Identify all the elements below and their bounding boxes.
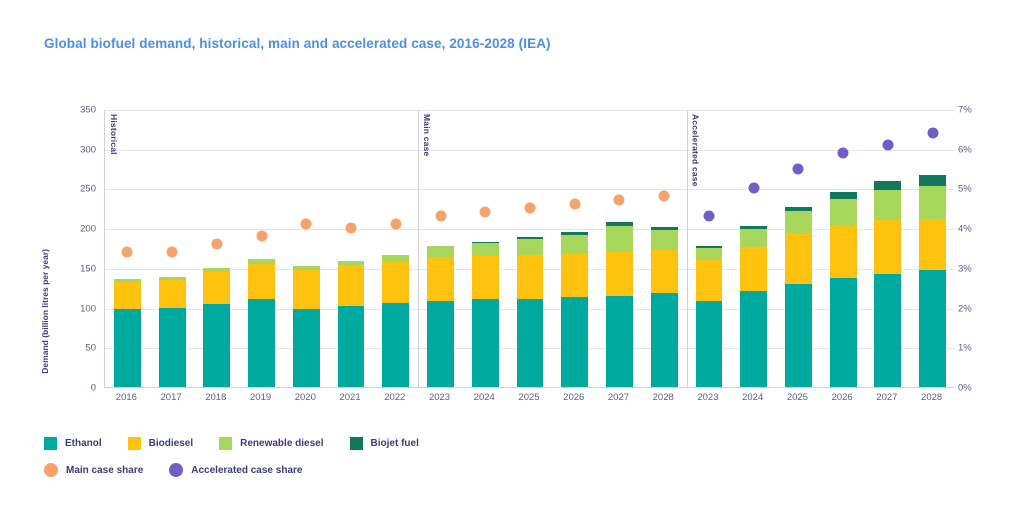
bar-segment-renewable_diesel — [427, 246, 454, 257]
bar-2021-historical[interactable] — [338, 109, 365, 387]
bar-segment-biodiesel — [696, 260, 723, 301]
marker-dot-accelerated_case_share[interactable] — [838, 147, 849, 158]
bar-2026-main-case[interactable] — [561, 109, 588, 387]
legend-label: Renewable diesel — [240, 438, 323, 449]
x-tick-label: 2022 — [384, 392, 405, 403]
x-tick-label: 2019 — [250, 392, 271, 403]
bar-segment-biodiesel — [740, 247, 767, 291]
bar-2028-accelerated-case[interactable] — [919, 109, 946, 387]
y-tick-label-right: 1% — [958, 343, 972, 354]
marker-dot-main_case_share[interactable] — [256, 231, 267, 242]
legend-item[interactable]: Main case share — [44, 463, 143, 477]
bar-segment-ethanol — [740, 291, 767, 387]
x-tick-label: 2028 — [921, 392, 942, 403]
bar-segment-biodiesel — [248, 264, 275, 299]
bar-segment-biodiesel — [382, 261, 409, 303]
bar-2024-main-case[interactable] — [472, 109, 499, 387]
bar-segment-biodiesel — [159, 280, 186, 308]
bar-segment-renewable_diesel — [606, 226, 633, 252]
panel-divider — [418, 110, 419, 387]
marker-dot-accelerated_case_share[interactable] — [793, 163, 804, 174]
bar-segment-biojet — [606, 222, 633, 226]
bar-segment-renewable_diesel — [740, 229, 767, 247]
bar-segment-ethanol — [517, 299, 544, 387]
legend-swatch-main_case_share — [44, 463, 58, 477]
y-tick-label: 350 — [80, 105, 96, 116]
bar-segment-ethanol — [382, 303, 409, 387]
marker-dot-main_case_share[interactable] — [390, 219, 401, 230]
bar-segment-biodiesel — [114, 282, 141, 309]
x-tick-label: 2027 — [608, 392, 629, 403]
bar-segment-renewable_diesel — [919, 186, 946, 219]
bar-segment-biojet — [696, 246, 723, 248]
bar-segment-biodiesel — [606, 252, 633, 296]
bar-segment-renewable_diesel — [203, 268, 230, 272]
panel-divider — [687, 110, 688, 387]
marker-dot-accelerated_case_share[interactable] — [882, 139, 893, 150]
bar-segment-renewable_diesel — [651, 230, 678, 250]
y-tick-label-right: 3% — [958, 263, 972, 274]
legend-label: Biodiesel — [149, 438, 193, 449]
bar-segment-biodiesel — [785, 233, 812, 284]
bar-segment-renewable_diesel — [561, 235, 588, 252]
bar-segment-biodiesel — [293, 270, 320, 309]
y-tick-label: 150 — [80, 263, 96, 274]
bar-segment-renewable_diesel — [382, 255, 409, 261]
y-tick-label: 200 — [80, 224, 96, 235]
bar-segment-biojet — [919, 175, 946, 186]
bar-segment-renewable_diesel — [696, 248, 723, 260]
bar-segment-renewable_diesel — [114, 279, 141, 282]
y-axis-right-ticks: 0%1%2%3%4%5%6%7% — [958, 110, 1004, 388]
legend-row-series: EthanolBiodieselRenewable dieselBiojet f… — [44, 437, 604, 450]
x-tick-label: 2025 — [518, 392, 539, 403]
bar-segment-renewable_diesel — [874, 190, 901, 220]
bar-2023-main-case[interactable] — [427, 109, 454, 387]
bar-segment-ethanol — [427, 301, 454, 387]
x-tick-label: 2016 — [116, 392, 137, 403]
legend-swatch-renewable_diesel — [219, 437, 232, 450]
legend-swatch-ethanol — [44, 437, 57, 450]
legend-item[interactable]: Ethanol — [44, 437, 102, 450]
marker-dot-accelerated_case_share[interactable] — [748, 183, 759, 194]
legend-label: Accelerated case share — [191, 465, 302, 476]
chart-legend: EthanolBiodieselRenewable dieselBiojet f… — [44, 437, 604, 490]
bar-segment-biodiesel — [651, 250, 678, 294]
bar-segment-biodiesel — [338, 265, 365, 306]
bar-segment-biojet — [651, 227, 678, 230]
x-tick-label: 2024 — [742, 392, 763, 403]
bar-segment-renewable_diesel — [338, 261, 365, 266]
legend-swatch-biodiesel — [128, 437, 141, 450]
bar-2024-accelerated-case[interactable] — [740, 109, 767, 387]
bar-2020-historical[interactable] — [293, 109, 320, 387]
y-tick-label-right: 7% — [958, 105, 972, 116]
bar-segment-ethanol — [293, 309, 320, 387]
marker-dot-main_case_share[interactable] — [525, 203, 536, 214]
legend-swatch-biojet — [350, 437, 363, 450]
x-tick-label: 2024 — [474, 392, 495, 403]
bar-segment-ethanol — [696, 301, 723, 387]
bar-2025-accelerated-case[interactable] — [785, 109, 812, 387]
legend-item[interactable]: Accelerated case share — [169, 463, 302, 477]
x-tick-label: 2023 — [429, 392, 450, 403]
y-tick-label: 50 — [85, 343, 96, 354]
y-axis-left-ticks: 050100150200250300350 — [48, 110, 96, 388]
y-tick-label-right: 2% — [958, 303, 972, 314]
y-tick-label: 250 — [80, 184, 96, 195]
legend-row-markers: Main case shareAccelerated case share — [44, 463, 604, 477]
bar-segment-ethanol — [830, 278, 857, 387]
bar-segment-biojet — [785, 207, 812, 212]
bar-segment-ethanol — [651, 293, 678, 387]
bar-segment-biojet — [472, 242, 499, 244]
legend-swatch-accelerated_case_share — [169, 463, 183, 477]
marker-dot-main_case_share[interactable] — [301, 219, 312, 230]
marker-dot-main_case_share[interactable] — [614, 195, 625, 206]
bar-segment-ethanol — [248, 299, 275, 387]
y-tick-label: 100 — [80, 303, 96, 314]
chart-plot-area: HistoricalMain caseAccelerated case — [104, 110, 954, 388]
bar-segment-renewable_diesel — [517, 239, 544, 255]
bar-segment-ethanol — [338, 306, 365, 387]
y-tick-label-right: 4% — [958, 224, 972, 235]
bar-segment-biodiesel — [203, 272, 230, 305]
bar-segment-biodiesel — [472, 256, 499, 299]
bar-segment-renewable_diesel — [159, 277, 186, 280]
bar-segment-biojet — [517, 237, 544, 239]
bar-segment-renewable_diesel — [830, 199, 857, 226]
bar-segment-ethanol — [472, 299, 499, 387]
y-tick-label-right: 6% — [958, 144, 972, 155]
bar-segment-biodiesel — [874, 220, 901, 274]
marker-dot-main_case_share[interactable] — [659, 191, 670, 202]
legend-item[interactable]: Biodiesel — [128, 437, 193, 450]
bar-segment-ethanol — [203, 304, 230, 387]
legend-item[interactable]: Biojet fuel — [350, 437, 419, 450]
bar-segment-biojet — [874, 181, 901, 190]
bar-segment-renewable_diesel — [785, 211, 812, 232]
bar-2027-accelerated-case[interactable] — [874, 109, 901, 387]
bar-segment-biojet — [561, 232, 588, 235]
marker-dot-main_case_share[interactable] — [211, 239, 222, 250]
bar-2019-historical[interactable] — [248, 109, 275, 387]
marker-dot-main_case_share[interactable] — [480, 207, 491, 218]
x-tick-label: 2017 — [161, 392, 182, 403]
marker-dot-accelerated_case_share[interactable] — [703, 211, 714, 222]
legend-label: Main case share — [66, 465, 143, 476]
marker-dot-main_case_share[interactable] — [346, 223, 357, 234]
legend-label: Biojet fuel — [371, 438, 419, 449]
y-tick-label: 0 — [91, 383, 96, 394]
x-tick-label: 2026 — [563, 392, 584, 403]
x-tick-label: 2028 — [653, 392, 674, 403]
bar-2025-main-case[interactable] — [517, 109, 544, 387]
marker-dot-main_case_share[interactable] — [569, 199, 580, 210]
bar-segment-biojet — [740, 226, 767, 229]
bar-2028-main-case[interactable] — [651, 109, 678, 387]
bar-segment-ethanol — [561, 297, 588, 387]
bar-segment-ethanol — [919, 270, 946, 387]
x-tick-label: 2023 — [697, 392, 718, 403]
bar-segment-ethanol — [785, 284, 812, 387]
legend-item[interactable]: Renewable diesel — [219, 437, 323, 450]
x-tick-label: 2020 — [295, 392, 316, 403]
x-tick-label: 2018 — [205, 392, 226, 403]
bar-2027-main-case[interactable] — [606, 109, 633, 387]
y-tick-label-right: 5% — [958, 184, 972, 195]
x-tick-label: 2027 — [876, 392, 897, 403]
bar-segment-biodiesel — [517, 255, 544, 299]
marker-dot-accelerated_case_share[interactable] — [927, 127, 938, 138]
y-tick-label-right: 0% — [958, 383, 972, 394]
bar-segment-renewable_diesel — [293, 266, 320, 270]
marker-dot-main_case_share[interactable] — [167, 246, 178, 257]
y-tick-label: 300 — [80, 144, 96, 155]
bar-segment-biojet — [830, 192, 857, 198]
page-title: Global biofuel demand, historical, main … — [44, 36, 551, 51]
marker-dot-main_case_share[interactable] — [435, 211, 446, 222]
legend-label: Ethanol — [65, 438, 102, 449]
bar-segment-ethanol — [114, 309, 141, 387]
x-tick-label: 2021 — [339, 392, 360, 403]
bar-segment-renewable_diesel — [472, 243, 499, 256]
bar-segment-biodiesel — [561, 253, 588, 297]
bar-segment-ethanol — [606, 296, 633, 387]
bar-2023-accelerated-case[interactable] — [696, 109, 723, 387]
bar-2022-historical[interactable] — [382, 109, 409, 387]
bar-segment-biodiesel — [830, 226, 857, 278]
x-tick-label: 2026 — [832, 392, 853, 403]
bar-segment-ethanol — [159, 308, 186, 387]
bar-segment-biodiesel — [919, 219, 946, 271]
x-tick-label: 2025 — [787, 392, 808, 403]
bar-segment-renewable_diesel — [248, 259, 275, 264]
marker-dot-main_case_share[interactable] — [122, 246, 133, 257]
bar-segment-biodiesel — [427, 258, 454, 302]
bar-segment-ethanol — [874, 274, 901, 387]
